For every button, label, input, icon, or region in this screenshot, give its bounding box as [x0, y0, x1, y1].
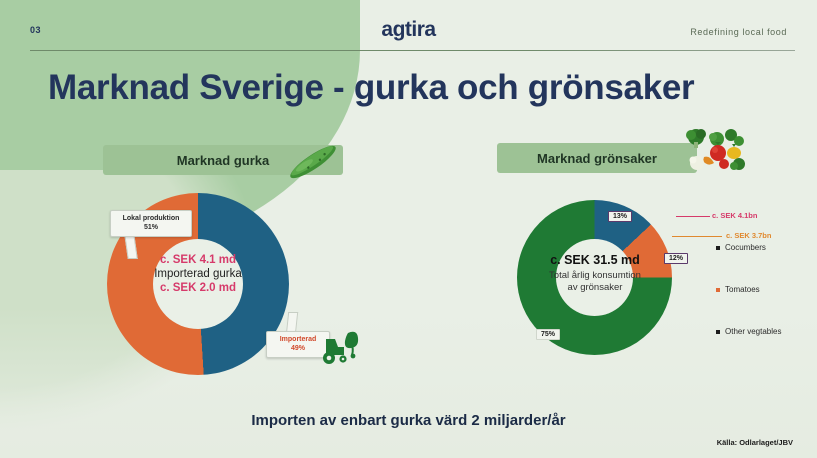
slice-label-cucumbers: 13% — [608, 211, 632, 222]
section-header-gurka: Marknad gurka — [103, 145, 343, 175]
donut-center-label-gurka: c. SEK 4.1 md Importerad gurka c. SEK 2.… — [120, 253, 276, 295]
section-header-gronsaker: Marknad grönsaker — [497, 143, 697, 173]
leader-line-tomatoes — [672, 236, 722, 237]
legend-item-cucumbers: Cocumbers — [716, 243, 816, 252]
gronsaker-center-caption: Total årlig konsumtion av grönsaker — [525, 270, 665, 294]
callout-lokal-produktion: Lokal produktion 51% — [110, 210, 192, 237]
gronsaker-total-value: c. SEK 31.5 md — [525, 253, 665, 268]
legend-item-other: Other vegtables — [716, 327, 816, 336]
donut-center-label-gronsaker: c. SEK 31.5 md Total årlig konsumtion av… — [525, 253, 665, 294]
bottom-note: Importen av enbart gurka värd 2 miljarde… — [0, 412, 817, 429]
gurka-import-value: c. SEK 2.0 md — [120, 281, 276, 295]
annotation-cucumbers-value: c. SEK 4.1bn — [712, 211, 757, 220]
annotation-tomatoes-value: c. SEK 3.7bn — [726, 231, 771, 240]
source-note: Källa: Odlarlaget/JBV — [717, 438, 793, 447]
legend-item-tomatoes: Tomatoes — [716, 285, 816, 294]
gurka-total-value: c. SEK 4.1 md — [120, 253, 276, 267]
page-title: Marknad Sverige - gurka och grönsaker — [48, 68, 694, 108]
callout-lokal-value: 51% — [116, 223, 186, 232]
vegetables-icon — [684, 123, 748, 175]
tractor-icon — [318, 325, 362, 367]
legend-label-tomatoes: Tomatoes — [725, 285, 760, 294]
slide-root: 03 agtira Redefining local food Marknad … — [0, 0, 817, 458]
leader-line-cucumbers — [676, 216, 710, 217]
brand-tagline: Redefining local food — [690, 27, 787, 37]
legend-swatch-cucumbers — [716, 246, 720, 250]
slice-label-tomatoes: 12% — [664, 253, 688, 264]
chart-legend: Cocumbers Tomatoes Other vegtables — [716, 243, 816, 336]
section-header-gurka-label: Marknad gurka — [177, 153, 269, 168]
legend-swatch-other — [716, 330, 720, 334]
legend-swatch-tomatoes — [716, 288, 720, 292]
legend-label-cucumbers: Cocumbers — [725, 243, 766, 252]
callout-importerad-value: 49% — [272, 344, 324, 353]
header-divider — [30, 50, 795, 51]
section-header-gronsaker-label: Marknad grönsaker — [537, 151, 657, 166]
slice-label-other: 75% — [536, 329, 560, 340]
gronsaker-caption-line1: Total årlig konsumtion — [549, 270, 641, 281]
slide-header: 03 agtira Redefining local food — [0, 0, 817, 52]
gronsaker-caption-line2: av grönsaker — [568, 282, 623, 293]
legend-label-other: Other vegtables — [725, 327, 781, 336]
gurka-center-caption: Importerad gurka — [120, 267, 276, 281]
callout-importerad-label: Importerad — [272, 335, 324, 344]
callout-lokal-label: Lokal produktion — [116, 214, 186, 223]
